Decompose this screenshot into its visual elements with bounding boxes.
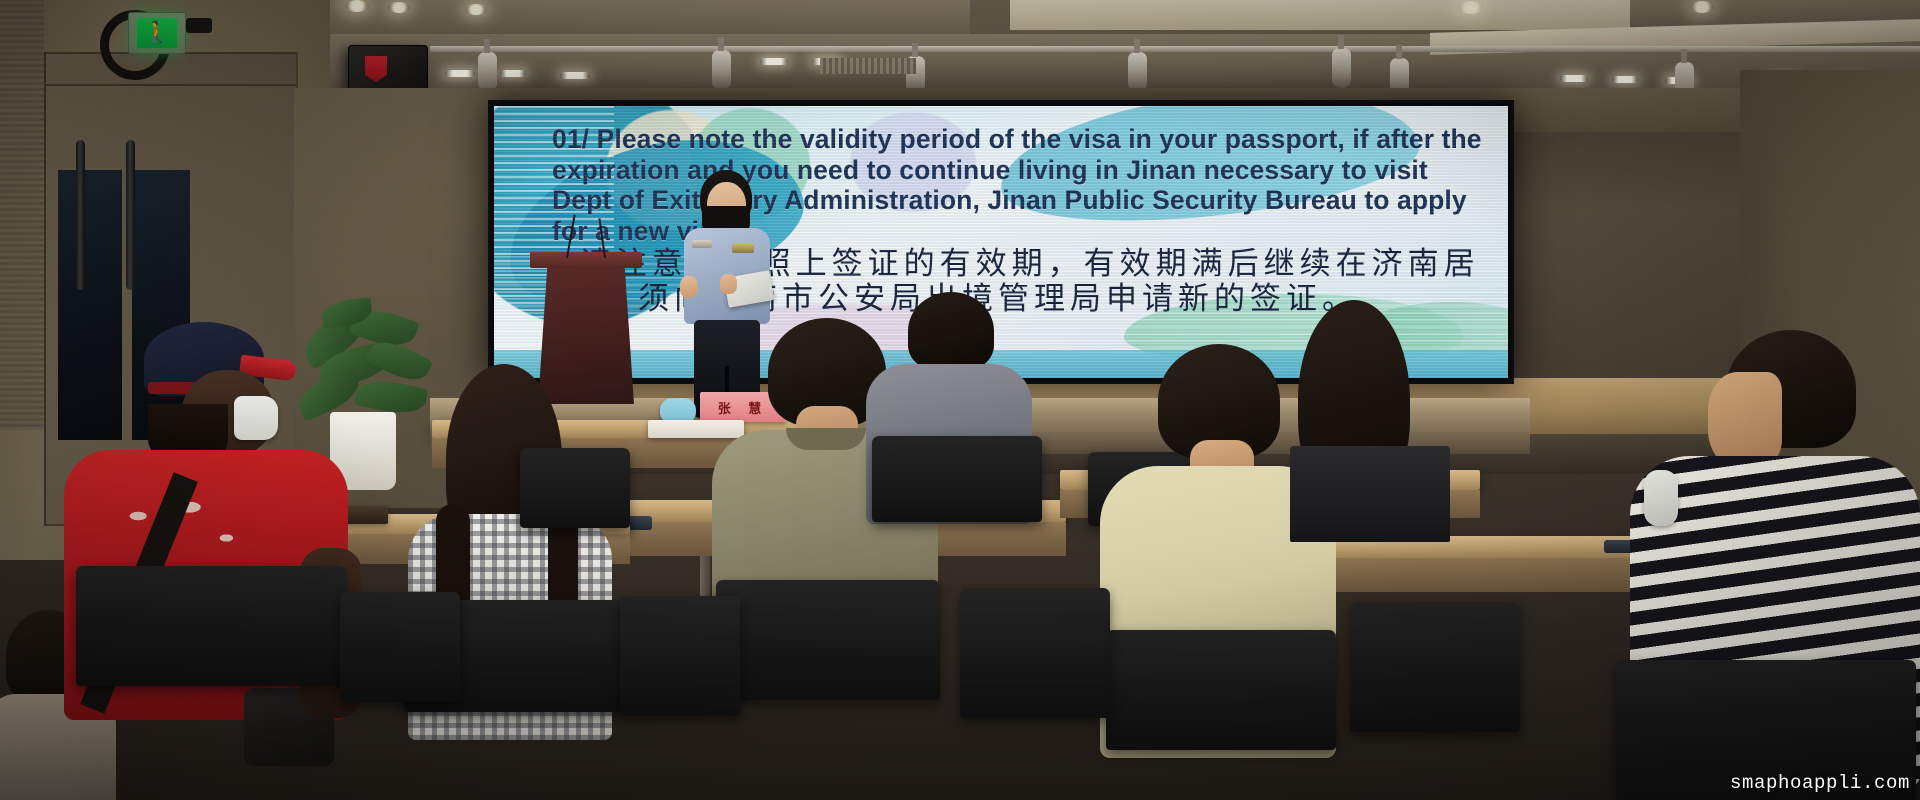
chair[interactable] bbox=[520, 448, 630, 528]
track-spotlight bbox=[712, 50, 731, 90]
open-laptop[interactable] bbox=[1290, 446, 1450, 542]
speaker-badge-icon bbox=[365, 56, 387, 82]
conference-room-photo: 🚶 SOUND bbox=[0, 0, 1920, 800]
chair[interactable] bbox=[716, 580, 940, 700]
acoustic-panel bbox=[0, 0, 44, 430]
track-spotlight bbox=[478, 52, 497, 92]
presenter-left-hand bbox=[680, 276, 698, 298]
attendee-mask-hanging bbox=[1644, 470, 1678, 526]
ceiling-downlight bbox=[345, 0, 369, 12]
chair[interactable] bbox=[76, 566, 346, 686]
chair[interactable] bbox=[872, 436, 1042, 522]
attendee-collar bbox=[786, 428, 866, 450]
site-watermark: smaphoappli.com bbox=[1730, 772, 1910, 794]
exit-sign-face: 🚶 bbox=[137, 18, 177, 48]
ceiling-vent bbox=[820, 58, 916, 74]
ceiling-downlight bbox=[1690, 1, 1714, 13]
door-transom bbox=[44, 52, 298, 86]
room-interior: 🚶 SOUND bbox=[0, 0, 1920, 800]
chair[interactable] bbox=[960, 588, 1110, 718]
presenter-shoulder-badge bbox=[692, 240, 712, 248]
attendee-plaid-woman bbox=[400, 364, 620, 800]
ceiling-downlight bbox=[465, 4, 487, 15]
chair[interactable] bbox=[1350, 602, 1520, 732]
ceiling-striplight bbox=[445, 70, 475, 77]
running-man-icon: 🚶 bbox=[143, 22, 170, 44]
ceiling-striplight bbox=[1612, 76, 1638, 83]
attendee-hair bbox=[908, 292, 994, 370]
emergency-exit-sign: 🚶 bbox=[128, 12, 186, 54]
door-handle[interactable] bbox=[76, 140, 85, 290]
ceiling-band-center bbox=[1010, 0, 1630, 30]
attendee-face-mask bbox=[234, 396, 278, 440]
chair[interactable] bbox=[340, 592, 460, 702]
ceiling-striplight bbox=[560, 72, 590, 79]
ceiling-coffer-left bbox=[330, 0, 970, 34]
track-spotlight bbox=[1128, 52, 1147, 92]
door-handle[interactable] bbox=[126, 140, 135, 290]
attendee-red-shirt-cap bbox=[64, 322, 364, 800]
presenter-chest-badge bbox=[732, 244, 754, 253]
ceiling-downlight bbox=[1458, 1, 1484, 14]
track-spotlight bbox=[1332, 48, 1351, 88]
ceiling-striplight bbox=[1560, 75, 1588, 82]
attendee-head-side bbox=[1708, 372, 1782, 468]
security-camera bbox=[186, 18, 212, 33]
ceiling-striplight bbox=[500, 70, 526, 77]
podium-top-surface bbox=[530, 252, 642, 268]
ceiling-downlight bbox=[388, 2, 410, 13]
ceiling-striplight bbox=[760, 58, 788, 65]
light-track-rail bbox=[430, 46, 1920, 52]
chair[interactable] bbox=[620, 596, 740, 716]
presenter-right-hand bbox=[720, 274, 737, 294]
chair[interactable] bbox=[1106, 630, 1336, 750]
